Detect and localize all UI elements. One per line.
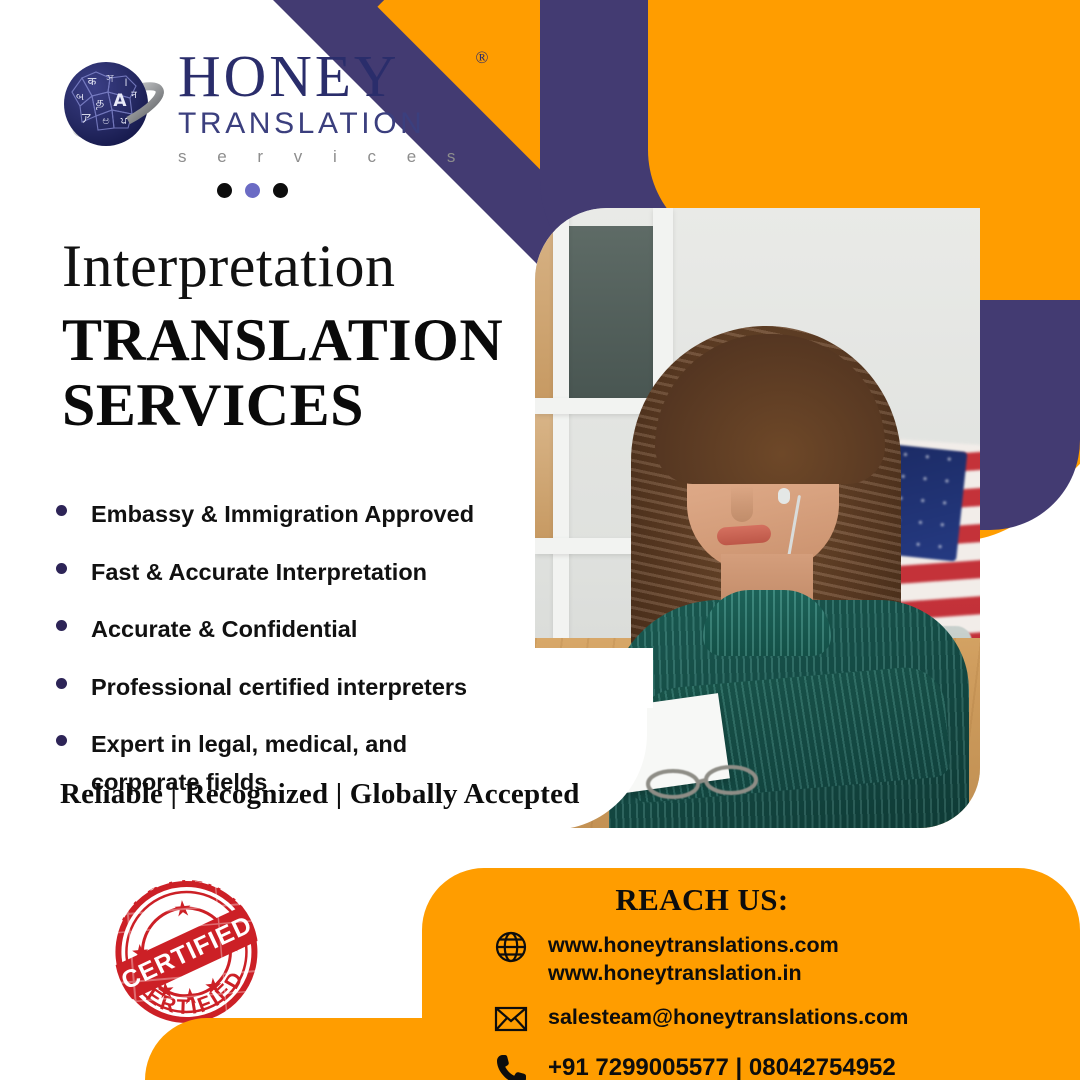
reach-us-heading: REACH US:: [422, 882, 982, 918]
feature-list: Embassy & Immigration Approved Fast & Ac…: [56, 496, 526, 822]
bullet-point-icon: [56, 735, 67, 746]
list-item-label: Fast & Accurate Interpretation: [91, 554, 427, 592]
eyeglasses: [643, 760, 763, 800]
svg-text:ಅ: ಅ: [102, 114, 109, 127]
phone-numbers[interactable]: +91 7299005577 | 08042754952: [548, 1051, 896, 1080]
certified-stamp-icon: CERTIFIED CERTIFIED CERTIFIED: [93, 861, 278, 1033]
svg-text:স: স: [105, 72, 114, 85]
headline-main-1: TRANSLATION: [62, 308, 532, 373]
list-item: Accurate & Confidential: [56, 611, 526, 649]
logo-wordmark-primary: HONEY: [178, 48, 468, 105]
tagline: Reliable | Recognized | Globally Accepte…: [60, 778, 580, 811]
bullet-point-icon: [56, 620, 67, 631]
svg-text:த: த: [96, 95, 104, 110]
bullet-point-icon: [56, 678, 67, 689]
svg-text:ア: ア: [81, 112, 92, 125]
phone-icon: [492, 1051, 530, 1080]
svg-text:A: A: [113, 91, 127, 111]
logo-wordmark-tertiary: s e r v i c e s: [178, 147, 468, 167]
list-item-label: Accurate & Confidential: [91, 611, 357, 649]
dot-3: [273, 183, 288, 198]
website-url-2[interactable]: www.honeytranslation.in: [548, 961, 802, 985]
svg-text:न: न: [131, 90, 137, 101]
globe-icon: [492, 928, 530, 966]
headline: Interpretation TRANSLATION SERVICES: [62, 236, 532, 438]
poster-canvas: क স ا न બ த A ア ಅ ਪ HONEY ®: [0, 0, 1080, 1080]
headline-script: Interpretation: [62, 236, 532, 296]
logo-wordmark-secondary: TRANSLATION: [178, 107, 468, 141]
envelope-icon: [492, 1000, 530, 1038]
contact-row-phone[interactable]: +91 7299005577 | 08042754952: [492, 1051, 1052, 1080]
email-address[interactable]: salesteam@honeytranslations.com: [548, 1000, 908, 1032]
list-item: Fast & Accurate Interpretation: [56, 554, 526, 592]
contact-row-website[interactable]: www.honeytranslations.com www.honeytrans…: [492, 928, 1052, 987]
headline-main-2: SERVICES: [62, 373, 532, 438]
registered-trademark-icon: ®: [476, 48, 489, 68]
bullet-point-icon: [56, 563, 67, 574]
bullet-point-icon: [56, 505, 67, 516]
list-item: Embassy & Immigration Approved: [56, 496, 526, 534]
list-item-label: Professional certified interpreters: [91, 669, 467, 707]
contact-row-email[interactable]: salesteam@honeytranslations.com: [492, 1000, 1052, 1038]
dot-1: [217, 183, 232, 198]
website-url-1[interactable]: www.honeytranslations.com: [548, 933, 839, 957]
list-item: Professional certified interpreters: [56, 669, 526, 707]
logo-dots: [217, 183, 452, 198]
list-item-label: Embassy & Immigration Approved: [91, 496, 474, 534]
globe-languages-icon: क স ا न બ த A ア ಅ ਪ: [52, 54, 164, 158]
brand-logo[interactable]: क স ا न બ த A ア ಅ ਪ HONEY ®: [52, 46, 452, 198]
svg-text:क: क: [88, 75, 97, 88]
svg-text:ا: ا: [125, 78, 128, 89]
svg-text:બ: બ: [76, 92, 84, 103]
contact-details: www.honeytranslations.com www.honeytrans…: [492, 928, 1052, 1080]
dot-2: [245, 183, 260, 198]
photo-corner-notch-fill: [535, 648, 653, 708]
